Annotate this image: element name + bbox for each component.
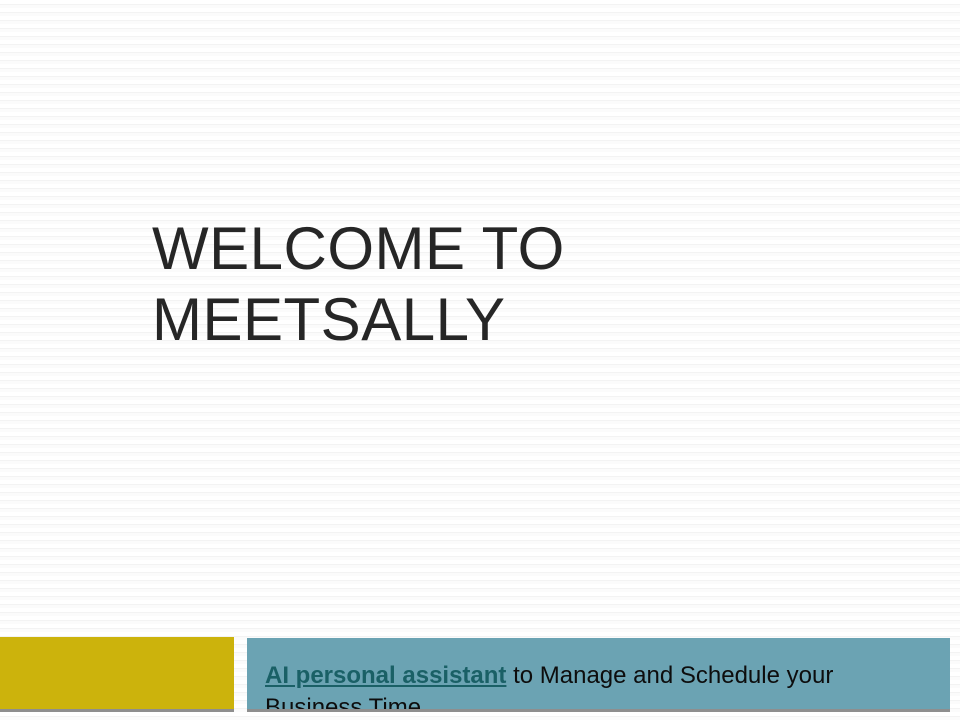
- page-title: Welcome to MeetSally: [152, 214, 852, 356]
- subtitle-text: AI personal assistant to Manage and Sche…: [265, 660, 935, 712]
- slide-background-texture: [0, 0, 960, 720]
- ai-personal-assistant-link[interactable]: AI personal assistant: [265, 662, 506, 689]
- presentation-slide: Welcome to MeetSally AI personal assista…: [0, 0, 960, 720]
- gold-accent-block: [0, 637, 234, 712]
- title-block: Welcome to MeetSally: [152, 214, 852, 356]
- subtitle-panel: AI personal assistant to Manage and Sche…: [247, 638, 950, 712]
